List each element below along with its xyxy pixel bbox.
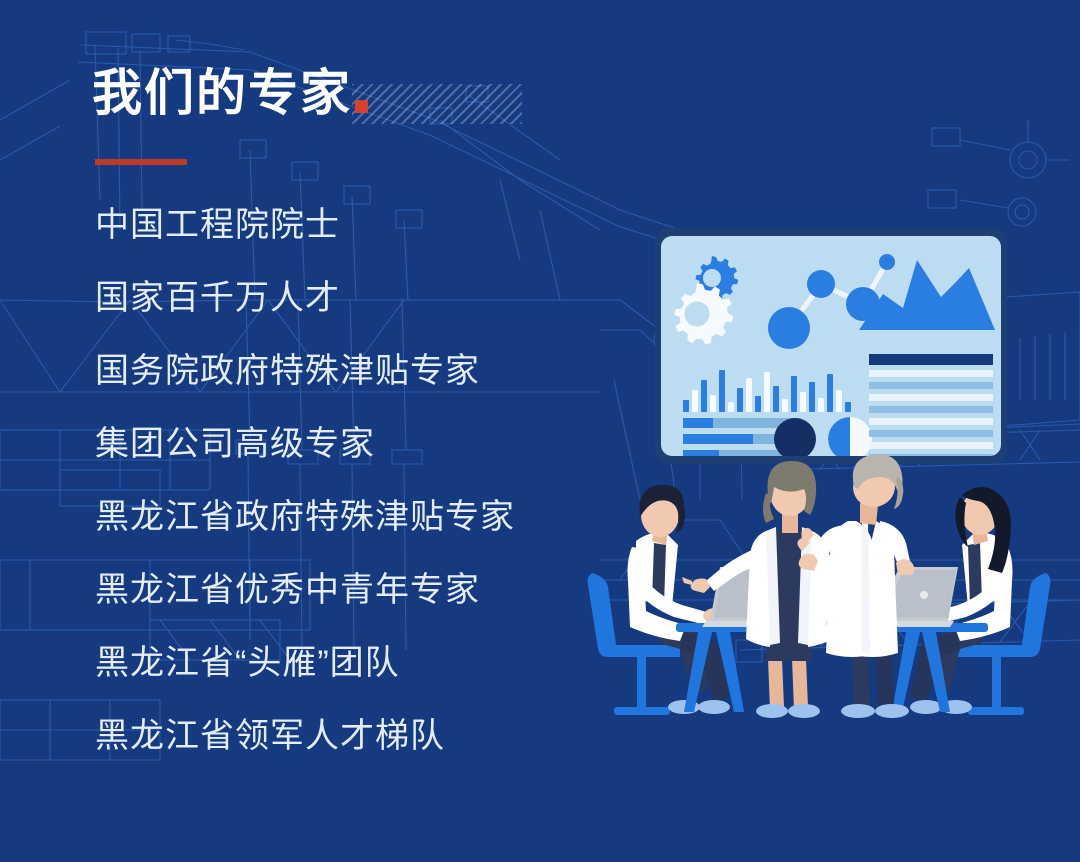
data-table-block bbox=[869, 354, 993, 456]
hatch-accent-square bbox=[355, 100, 368, 113]
solid-dark-circle-icon bbox=[774, 418, 816, 456]
table-row bbox=[869, 382, 993, 389]
table-row bbox=[869, 406, 993, 413]
title-underline-rule bbox=[95, 159, 187, 165]
table-row bbox=[869, 430, 993, 437]
slide-root: 我们的专家 中国工程院院士 国家百千万人才 国务院政府特殊津贴专家 集团公司高级… bbox=[0, 0, 1080, 862]
list-item: 黑龙江省政府特殊津贴专家 bbox=[95, 500, 615, 534]
panel-screen bbox=[661, 236, 1001, 456]
progress-bar-2-fill bbox=[683, 434, 753, 444]
table-row bbox=[869, 442, 993, 449]
list-item: 黑龙江省优秀中青年专家 bbox=[95, 573, 615, 607]
list-item: 中国工程院院士 bbox=[95, 208, 615, 242]
table-row bbox=[869, 394, 993, 401]
list-item: 黑龙江省“头雁”团队 bbox=[95, 646, 615, 680]
half-pie-chart-icon bbox=[828, 417, 872, 456]
list-item: 国务院政府特殊津贴专家 bbox=[95, 354, 615, 388]
page-title: 我们的专家 bbox=[92, 68, 352, 118]
audio-waveform-bars-icon bbox=[683, 364, 858, 412]
table-header-bar bbox=[869, 354, 993, 365]
team-meeting-illustration bbox=[580, 455, 1080, 755]
table-row bbox=[869, 418, 993, 425]
mountain-area-chart-icon bbox=[859, 250, 995, 342]
progress-bar-1-fill bbox=[683, 418, 713, 428]
credentials-list: 中国工程院院士 国家百千万人才 国务院政府特殊津贴专家 集团公司高级专家 黑龙江… bbox=[95, 208, 615, 753]
analytics-dashboard-panel bbox=[655, 228, 1007, 464]
gear-large-white-icon bbox=[661, 278, 733, 350]
list-item: 国家百千万人才 bbox=[95, 281, 615, 315]
list-item: 黑龙江省领军人才梯队 bbox=[95, 719, 615, 753]
list-item: 集团公司高级专家 bbox=[95, 427, 615, 461]
hatch-decoration bbox=[352, 84, 522, 124]
table-row bbox=[869, 370, 993, 377]
